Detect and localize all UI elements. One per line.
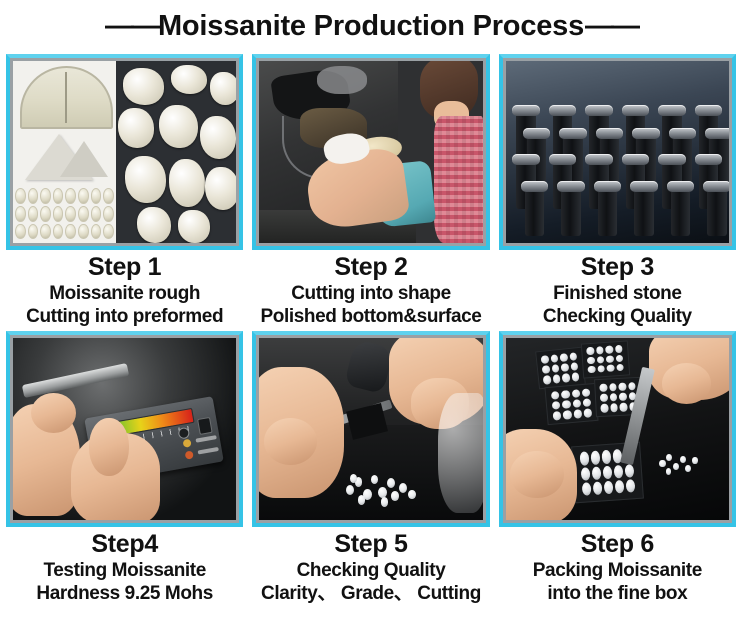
step-2-photo-frame (252, 54, 489, 250)
step-6-line2: into the fine box (499, 582, 736, 605)
step-4-line1: Testing Moissanite (6, 559, 243, 582)
step-3-label: Step 3 (499, 252, 736, 282)
step-3-photo-frame (499, 54, 736, 250)
title-dash-left: —— (105, 10, 157, 42)
preform-row-tray (15, 188, 114, 239)
step-4-photo (13, 338, 236, 520)
step-card-2: Step 2 Cutting into shape Polished botto… (252, 54, 489, 331)
step-1-caption: Step 1 Moissanite rough Cutting into pre… (6, 250, 243, 331)
tester-scene (13, 338, 236, 520)
step-4-label: Step4 (6, 529, 243, 559)
step-1-photo-frame (6, 54, 243, 250)
moissanite-production-process-infographic: ——Moissanite Production Process—— (0, 0, 742, 640)
step-2-line1: Cutting into shape (252, 282, 489, 305)
step-1-photo (13, 61, 236, 243)
checkered-apron (434, 116, 483, 243)
step-1-line2: Cutting into preformed (6, 305, 243, 328)
step-5-caption: Step 5 Checking Quality Clarity、 Grade、 … (252, 527, 489, 608)
step-5-line1: Checking Quality (252, 559, 489, 582)
steps-grid: Step 1 Moissanite rough Cutting into pre… (0, 54, 742, 608)
title-dash-right: —— (585, 10, 637, 42)
step-1-line1: Moissanite rough (6, 282, 243, 305)
step-card-5: Step 5 Checking Quality Clarity、 Grade、 … (252, 331, 489, 608)
dop-stick-rows (512, 105, 722, 236)
step-3-caption: Step 3 Finished stone Checking Quality (499, 250, 736, 331)
rough-boule-collage (13, 61, 116, 243)
step-2-photo (259, 61, 482, 243)
step-6-caption: Step 6 Packing Moissanite into the fine … (499, 527, 736, 608)
step-card-1: Step 1 Moissanite rough Cutting into pre… (6, 54, 243, 331)
step-6-photo (506, 338, 729, 520)
step-5-label: Step 5 (252, 529, 489, 559)
step-1-label: Step 1 (6, 252, 243, 282)
step-6-photo-frame (499, 331, 736, 527)
step-4-line2: Hardness 9.25 Mohs (6, 582, 243, 605)
page-title: ——Moissanite Production Process—— (0, 0, 742, 54)
cutting-workstation-scene (259, 61, 482, 243)
step-3-line2: Checking Quality (499, 305, 736, 328)
step-6-label: Step 6 (499, 529, 736, 559)
tester-power-button (197, 417, 213, 436)
step-5-photo (259, 338, 482, 520)
step-card-4: Step4 Testing Moissanite Hardness 9.25 M… (6, 331, 243, 608)
stone-tray (544, 383, 598, 426)
step-5-photo-frame (252, 331, 489, 527)
step-3-photo (506, 61, 729, 243)
crystal-boule-icon (20, 66, 112, 128)
step-2-caption: Step 2 Cutting into shape Polished botto… (252, 250, 489, 331)
step-3-line1: Finished stone (499, 282, 736, 305)
preform-triangle-2 (60, 141, 108, 177)
step-5-line2: Clarity、 Grade、 Cutting (252, 582, 489, 605)
step-2-line2: Polished bottom&surface (252, 305, 489, 328)
stone-tray (580, 340, 629, 378)
step-2-label: Step 2 (252, 252, 489, 282)
step-4-caption: Step4 Testing Moissanite Hardness 9.25 M… (6, 527, 243, 608)
title-text: Moissanite Production Process (158, 10, 584, 42)
rough-chunks-tray (116, 61, 237, 243)
step-4-photo-frame (6, 331, 243, 527)
step-card-3: Step 3 Finished stone Checking Quality (499, 54, 736, 331)
loose-gemstones-pile (658, 451, 703, 480)
dop-stick-array-scene (506, 61, 729, 243)
stone-tray (535, 347, 585, 390)
packing-scene (506, 338, 729, 520)
loose-gemstones-pile (344, 469, 420, 509)
step-6-line1: Packing Moissanite (499, 559, 736, 582)
step-card-6: Step 6 Packing Moissanite into the fine … (499, 331, 736, 608)
quality-check-scene (259, 338, 482, 520)
